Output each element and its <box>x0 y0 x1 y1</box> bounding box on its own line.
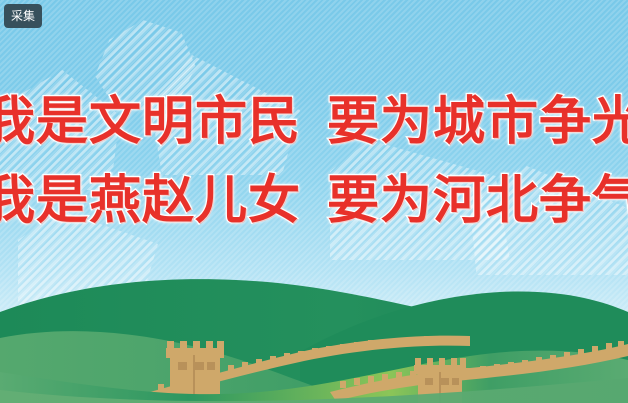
slogan-line-1-left: 我是文明市民 <box>0 96 301 148</box>
slogan-line-2-right: 要为河北争气 <box>327 175 628 227</box>
slogan-line-1: 我是文明市民 要为城市争光 <box>0 96 628 148</box>
slogan-line-2: 我是燕赵儿女 要为河北争气 <box>0 175 628 227</box>
slogan-block: 我是文明市民 要为城市争光 我是燕赵儿女 要为河北争气 <box>0 96 628 227</box>
slogan-line-2-left: 我是燕赵儿女 <box>0 175 301 227</box>
banner-image: 我是文明市民 要为城市争光 我是燕赵儿女 要为河北争气 采集 <box>0 0 628 403</box>
collect-button[interactable]: 采集 <box>4 4 42 28</box>
slogan-line-1-right: 要为城市争光 <box>327 96 628 148</box>
